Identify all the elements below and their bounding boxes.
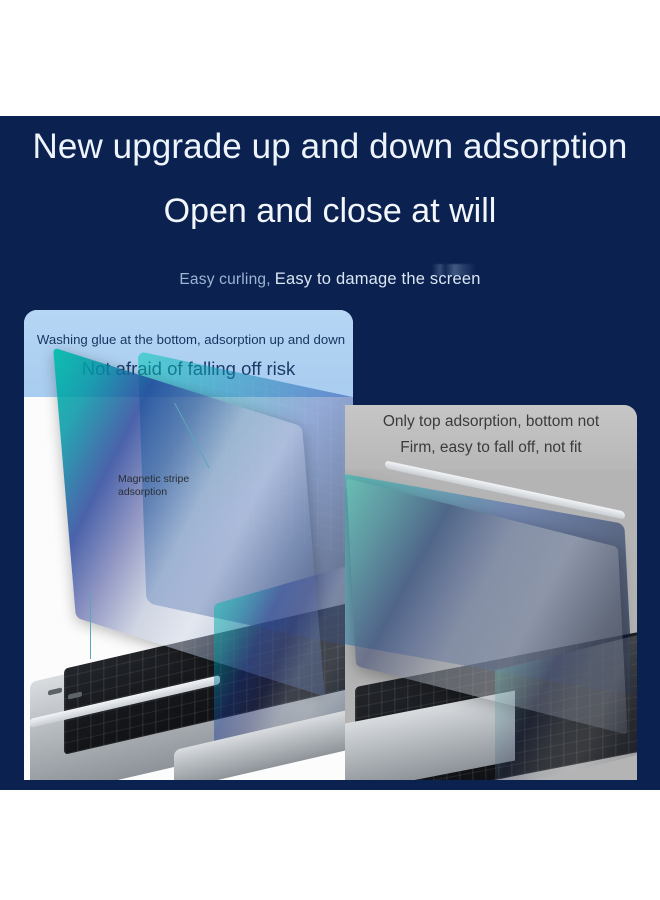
bad-product-panel: Only top adsorption, bottom not Firm, ea… xyxy=(345,405,637,780)
bad-banner-line-2: Firm, easy to fall off, not fit xyxy=(345,439,637,457)
headline-secondary: Open and close at will xyxy=(0,192,660,231)
good-banner-line-1: Washing glue at the bottom, adsorption u… xyxy=(24,332,353,347)
magnetic-stripe-callout: Magnetic stripe adsorption xyxy=(118,473,189,499)
magnetic-stripe-callout-line-2: adsorption xyxy=(118,486,167,498)
bad-banner-line-1: Only top adsorption, bottom not xyxy=(345,413,637,431)
subtitle-weak-fragment: Easy curling, xyxy=(179,271,270,288)
headline-primary: New upgrade up and down adsorption xyxy=(0,127,660,167)
bad-laptop-photo xyxy=(345,470,637,780)
subtitle-row: Easy curling,Easy to damage the screen xyxy=(0,270,660,289)
product-marketing-image: New upgrade up and down adsorption Open … xyxy=(0,0,660,900)
good-laptop-photo xyxy=(24,397,353,780)
magnetic-stripe-callout-line-1: Magnetic stripe xyxy=(118,473,189,485)
callout-leader-line-bottom xyxy=(90,593,91,659)
good-product-panel: Washing glue at the bottom, adsorption u… xyxy=(24,310,353,780)
subtitle-strong-fragment: Easy to damage the screen xyxy=(275,270,481,288)
